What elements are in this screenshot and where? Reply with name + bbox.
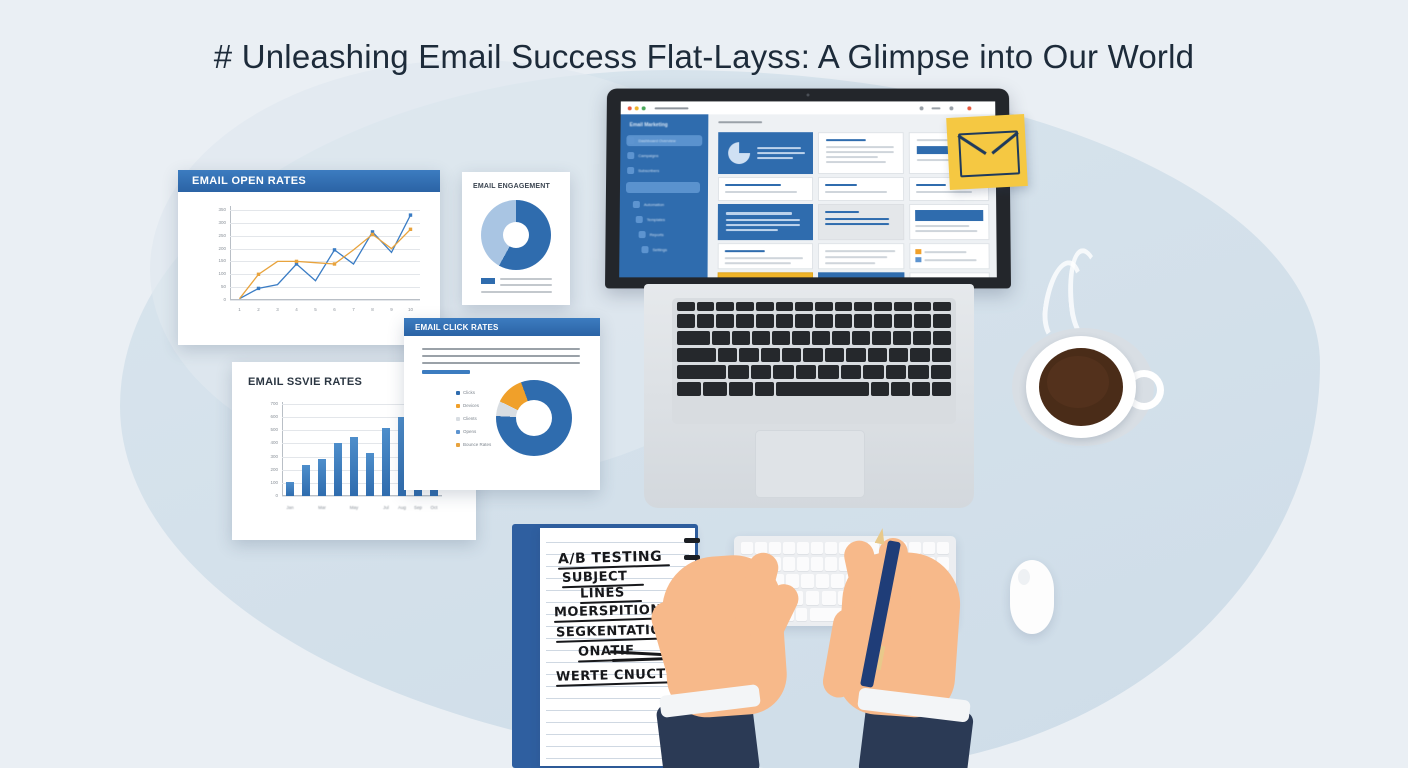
data-point [409, 228, 412, 231]
y-tick-label: 700 [260, 401, 278, 406]
keyboard-key[interactable] [841, 365, 861, 379]
keyboard-key[interactable] [825, 348, 844, 362]
card-email-open-rates: EMAIL OPEN RATES 35030025020015010050012… [178, 170, 440, 345]
card-header-open-rates: EMAIL OPEN RATES [178, 170, 440, 192]
keyboard-key[interactable] [803, 348, 822, 362]
line-series-group [204, 206, 426, 314]
keyboard-key[interactable] [874, 314, 892, 328]
legend-text-line [481, 291, 552, 293]
y-tick-label: 200 [260, 467, 278, 472]
keyboard-key[interactable] [728, 365, 748, 379]
keyboard-key[interactable] [932, 382, 951, 396]
flat-lay-illustration: # Unleashing Email Success Flat-Layss: A… [0, 0, 1408, 768]
data-point [257, 287, 260, 290]
keyboard-key[interactable] [908, 365, 928, 379]
keyboard-key[interactable] [761, 348, 780, 362]
y-tick-label: 300 [260, 454, 278, 459]
content-card-primary[interactable] [818, 272, 904, 277]
x-tick-label: May [350, 505, 359, 510]
keyboard-key[interactable] [677, 314, 695, 328]
bar [366, 453, 374, 496]
keyboard-key[interactable] [937, 542, 949, 554]
y-tick-label: 500 [260, 427, 278, 432]
keyboard-key[interactable] [868, 348, 887, 362]
legend-text-line [500, 284, 552, 286]
cta-button[interactable] [915, 210, 983, 221]
y-tick-label: 0 [260, 493, 278, 498]
keyboard-key[interactable] [835, 302, 853, 311]
data-point [295, 260, 298, 263]
keyboard-key[interactable] [697, 302, 715, 311]
legend-item: Clicks [456, 390, 475, 395]
keyboard-key[interactable] [913, 331, 931, 345]
card-email-click-rates: EMAIL CLICK RATES ClicksDevicesClientsOp… [404, 318, 600, 490]
keyboard-key[interactable] [871, 382, 890, 396]
sidebar-item-label: Templates [647, 217, 665, 222]
keyboard-key[interactable] [677, 348, 716, 362]
legend-swatch [456, 417, 460, 421]
sidebar-item-campaigns[interactable]: Campaigns [627, 152, 658, 159]
content-heading [718, 121, 762, 123]
keyboard-key[interactable] [752, 331, 770, 345]
coffee-cup [1006, 322, 1166, 452]
list-bullet [915, 249, 921, 254]
bar [334, 443, 342, 496]
legend-swatch [456, 404, 460, 408]
keyboard-key[interactable] [736, 314, 754, 328]
spiral-ring [684, 538, 700, 543]
y-tick-label: 100 [260, 480, 278, 485]
dashboard-sidebar: Email Marketing Dashboard OverviewCampai… [619, 114, 708, 277]
keyboard-key[interactable] [931, 365, 951, 379]
donut-hole [503, 222, 529, 248]
keyboard-key[interactable] [782, 348, 801, 362]
envelope-icon [958, 130, 1020, 177]
"cog-icon [641, 246, 648, 253]
content-card-row[interactable] [818, 177, 904, 201]
card-email-engagement: EMAIL ENGAGEMENT [462, 172, 570, 305]
keyboard-key[interactable] [825, 557, 837, 571]
keyboard-key[interactable] [910, 348, 929, 362]
legend-item: Bounce Rates [456, 442, 491, 447]
keyboard-key[interactable] [811, 557, 823, 571]
legend-swatch [481, 278, 495, 284]
card-title-engagement: EMAIL ENGAGEMENT [473, 183, 550, 190]
mouse-highlight [1018, 569, 1030, 585]
content-card-chart[interactable] [718, 132, 813, 174]
x-tick-label: Aug [398, 505, 406, 510]
keyboard-key[interactable] [797, 542, 809, 554]
keyboard-key[interactable] [797, 557, 809, 571]
keyboard-key[interactable] [893, 331, 911, 345]
search-icon[interactable] [920, 106, 924, 110]
keyboard-key[interactable] [795, 302, 813, 311]
keyboard-key[interactable] [894, 314, 912, 328]
keyboard-key[interactable] [769, 542, 781, 554]
legend-label: Opens [463, 429, 476, 434]
sidebar-item-reports[interactable]: Reports [639, 231, 664, 238]
content-card-alert[interactable] [718, 272, 814, 277]
legend-item: Devices [456, 403, 479, 408]
keyboard-key[interactable] [835, 314, 853, 328]
legend-swatch [456, 430, 460, 434]
data-point [371, 233, 374, 236]
keyboard-key[interactable] [801, 574, 814, 588]
sidebar-item-label: Automation [644, 202, 664, 207]
ruled-line [546, 542, 689, 543]
legend-label: Bounce Rates [463, 442, 491, 447]
keyboard-key[interactable] [914, 314, 932, 328]
data-point [333, 262, 336, 265]
laptop-trackpad[interactable] [755, 430, 865, 498]
content-card-muted[interactable] [818, 204, 904, 240]
wireless-mouse[interactable] [1010, 560, 1054, 634]
note-line: LINES [580, 585, 625, 601]
keyboard-key[interactable] [872, 331, 890, 345]
sidebar-item-label: Dashboard Overview [638, 138, 675, 143]
bar [350, 437, 358, 496]
sidebar-title: Email Marketing [630, 122, 668, 128]
laptop-keyboard[interactable] [672, 298, 956, 424]
keyboard-key[interactable] [776, 382, 869, 396]
legend-item: Clients [456, 416, 477, 421]
line-chart-open-rates: 35030025020015010050012345678910 [204, 206, 426, 314]
x-tick-label: Jul [383, 505, 389, 510]
data-point [409, 213, 412, 216]
keyboard-key[interactable] [697, 314, 715, 328]
keyboard-key[interactable] [818, 365, 838, 379]
keyboard-key[interactable] [891, 382, 910, 396]
"mail-icon [627, 152, 634, 159]
data-point [257, 273, 260, 276]
card-title-send-rates: EMAIL SSVIE RATES [248, 376, 362, 388]
legend-swatch [456, 391, 460, 395]
minimize-icon[interactable] [635, 106, 639, 110]
sidebar-item-label: Settings [653, 247, 668, 252]
keyboard-key[interactable] [825, 542, 837, 554]
content-card-row[interactable] [718, 243, 813, 269]
keyboard-key[interactable] [739, 348, 758, 362]
maximize-icon[interactable] [642, 106, 646, 110]
keyboard-key[interactable] [815, 314, 833, 328]
content-card-text[interactable] [818, 132, 904, 174]
"users-icon [627, 167, 634, 174]
keyboard-key[interactable] [712, 331, 730, 345]
keyboard-key[interactable] [831, 574, 844, 588]
keyboard-key[interactable] [932, 348, 951, 362]
y-axis [282, 402, 283, 496]
keyboard-key[interactable] [756, 314, 774, 328]
legend-text-line [500, 278, 552, 280]
keyboard-key[interactable] [914, 302, 932, 311]
keyboard-key[interactable] [716, 314, 734, 328]
bar [318, 459, 326, 497]
keyboard-key[interactable] [783, 557, 795, 571]
keyboard-key[interactable] [933, 302, 951, 311]
keyboard-key[interactable] [889, 348, 908, 362]
browser-toolbar[interactable] [621, 101, 996, 115]
legend-label: Clients [463, 416, 477, 421]
keyboard-key[interactable] [832, 331, 850, 345]
legend-label: Devices [463, 403, 479, 408]
keyboard-key[interactable] [773, 365, 793, 379]
keyboard-key[interactable] [874, 302, 892, 311]
card-header-click-rates: EMAIL CLICK RATES [404, 318, 600, 336]
keyboard-key[interactable] [854, 302, 872, 311]
keyboard-key[interactable] [751, 365, 771, 379]
menu-icon[interactable] [932, 107, 941, 109]
keyboard-key[interactable] [703, 382, 727, 396]
x-tick-label: Mar [318, 505, 326, 510]
y-tick-label: 400 [260, 440, 278, 445]
keyboard-key[interactable] [854, 314, 872, 328]
keyboard-key[interactable] [729, 382, 753, 396]
bar [302, 465, 310, 496]
content-card-row[interactable] [718, 177, 813, 201]
keyboard-key[interactable] [772, 331, 790, 345]
data-point [333, 248, 336, 251]
profile-avatar[interactable] [967, 106, 971, 110]
laptop-screen[interactable]: Email Marketing Dashboard OverviewCampai… [619, 101, 997, 277]
keyboard-key[interactable] [816, 574, 829, 588]
keyboard-key[interactable] [822, 591, 836, 605]
keyboard-key[interactable] [811, 542, 823, 554]
keyboard-key[interactable] [863, 365, 883, 379]
legend-item: Opens [456, 429, 476, 434]
sticky-note[interactable] [946, 114, 1028, 190]
keyboard-key[interactable] [912, 382, 931, 396]
keyboard-key[interactable] [756, 302, 774, 311]
page-title: # Unleashing Email Success Flat-Layss: A… [0, 38, 1408, 76]
keyboard-key[interactable] [677, 382, 701, 396]
laptop-base [644, 284, 974, 508]
keyboard-key[interactable] [923, 542, 935, 554]
sidebar-item-label: Subscribers [638, 168, 659, 173]
"gear-icon [633, 201, 640, 208]
keyboard-key[interactable] [933, 331, 951, 345]
line-series [240, 229, 411, 298]
keyboard-key[interactable] [677, 365, 726, 379]
keyboard-key[interactable] [677, 331, 710, 345]
sidebar-group-highlight [626, 182, 700, 193]
content-card-list[interactable] [909, 243, 989, 269]
gridline [282, 496, 442, 497]
bar [382, 428, 390, 496]
webcam-icon [807, 94, 810, 97]
sidebar-item-label: Campaigns [638, 153, 658, 158]
legend-swatch [456, 443, 460, 447]
donut-hole [516, 400, 552, 436]
legend-label: Clicks [463, 390, 475, 395]
"layout-icon [636, 216, 643, 223]
"grid-icon [627, 137, 634, 144]
sidebar-item-label: Reports [650, 232, 664, 237]
browser-title [655, 107, 689, 109]
x-tick-label: Oct [430, 505, 437, 510]
content-card-row[interactable] [909, 272, 990, 277]
keyboard-key[interactable] [796, 365, 816, 379]
keyboard-key[interactable] [852, 331, 870, 345]
note-line: SUBJECT [562, 569, 628, 586]
keyboard-key[interactable] [792, 331, 810, 345]
keyboard-key[interactable] [732, 331, 750, 345]
keyboard-key[interactable] [796, 608, 807, 621]
y-tick-label: 600 [260, 414, 278, 419]
sidebar-item-subscribers[interactable]: Subscribers [627, 167, 659, 174]
content-card-cta[interactable] [909, 204, 989, 240]
x-tick-label: Sep [414, 505, 422, 510]
keyboard-key[interactable] [776, 302, 794, 311]
keyboard-key[interactable] [755, 382, 774, 396]
"file-icon [639, 231, 646, 238]
pie-slice [739, 142, 750, 153]
sidebar-item-templates[interactable]: Templates [636, 216, 665, 223]
list-bullet [915, 257, 921, 262]
x-tick-label: Jan [286, 505, 293, 510]
line-series [240, 215, 411, 299]
coffee-liquid [1039, 348, 1123, 426]
sidebar-item-settings[interactable]: Settings [641, 246, 667, 253]
content-card-row[interactable] [818, 243, 904, 269]
keyboard-key[interactable] [894, 302, 912, 311]
keyboard-key[interactable] [783, 542, 795, 554]
sidebar-item-automation[interactable]: Automation [633, 201, 664, 208]
sidebar-item-dashboard-overview[interactable]: Dashboard Overview [627, 137, 675, 144]
keyboard-key[interactable] [718, 348, 737, 362]
keyboard-key[interactable] [812, 331, 830, 345]
content-card-primary[interactable] [718, 204, 813, 240]
keyboard-key[interactable] [886, 365, 906, 379]
keyboard-key[interactable] [716, 302, 734, 311]
keyboard-key[interactable] [846, 348, 865, 362]
bar [286, 482, 294, 496]
close-icon[interactable] [628, 106, 632, 110]
keyboard-key[interactable] [736, 302, 754, 311]
keyboard-key[interactable] [677, 302, 695, 311]
keyboard-key[interactable] [815, 302, 833, 311]
keyboard-key[interactable] [806, 591, 820, 605]
stat-bar [917, 146, 951, 154]
keyboard-key[interactable] [795, 314, 813, 328]
keyboard-key[interactable] [741, 542, 753, 554]
refresh-icon[interactable] [949, 106, 953, 110]
keyboard-key[interactable] [776, 314, 794, 328]
keyboard-key[interactable] [933, 314, 951, 328]
